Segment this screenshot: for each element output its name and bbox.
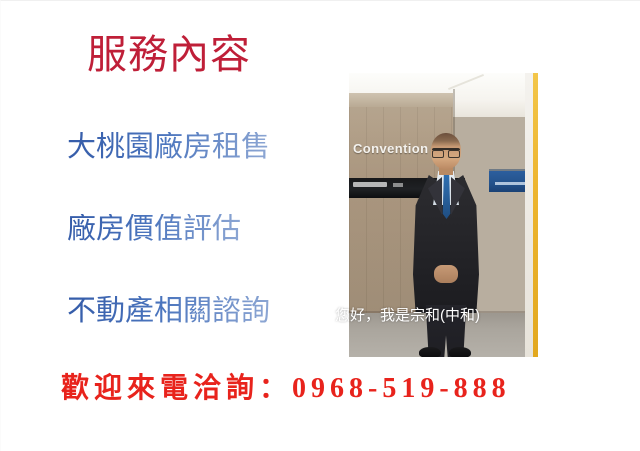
photo-band-highlight-2	[393, 183, 403, 187]
page-title: 服務內容	[87, 34, 251, 76]
photo-caption: 您好，我是宗和(中和)	[335, 307, 480, 325]
contact-phone-line: 歡迎來電洽詢：0968-519-888	[61, 374, 511, 405]
service-item-2: 廠房價值評估	[67, 214, 241, 246]
eyeglasses-icon	[432, 148, 460, 157]
person-shoe-left	[419, 347, 441, 357]
person-shoe-right	[449, 347, 471, 357]
person-hands	[434, 265, 458, 283]
photo-band-highlight	[353, 182, 387, 187]
service-item-3: 不動產相關諮詢	[67, 296, 270, 328]
photo-blue-plaque-stripe	[495, 182, 525, 185]
photo-right-yellow-strip	[533, 73, 538, 357]
service-item-1: 大桃園廠房租售	[67, 132, 270, 164]
photo-right-wall-gap	[525, 73, 533, 357]
presentation-slide: 服務內容 大桃園廠房租售 廠房價值評估 不動產相關諮詢 Convention C…	[0, 0, 640, 451]
